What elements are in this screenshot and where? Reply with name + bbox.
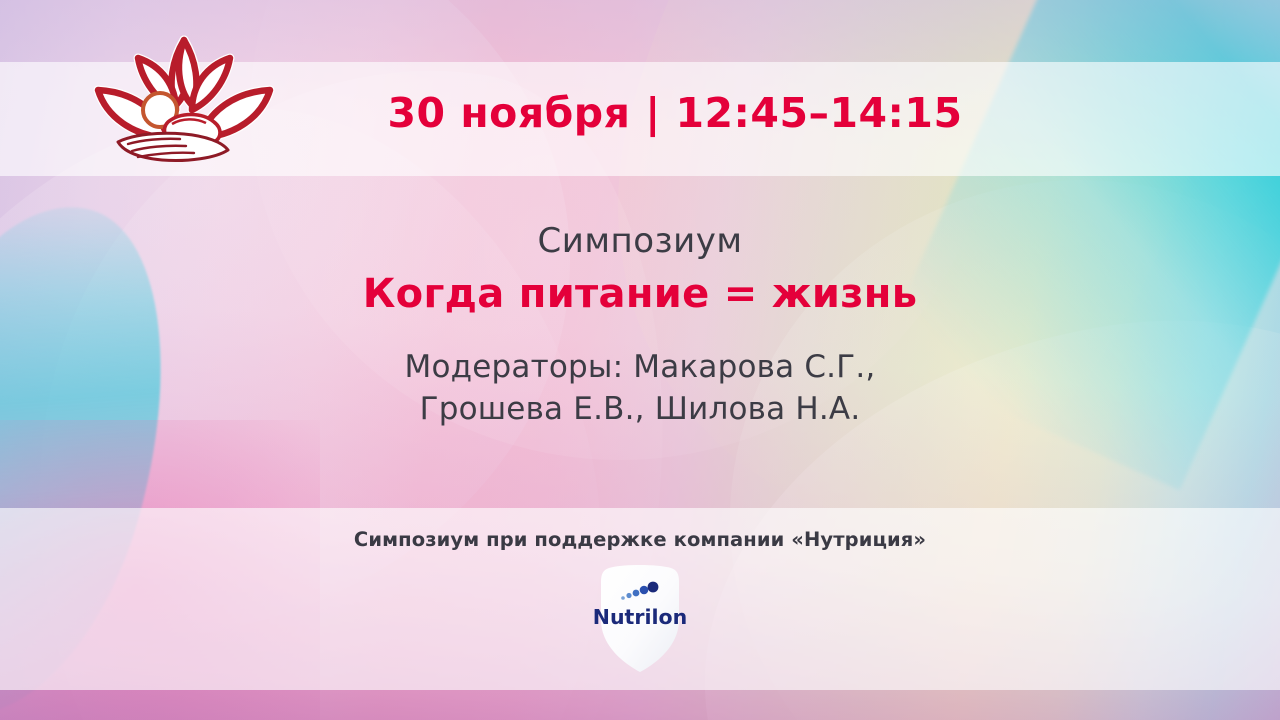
- session-type-label: Симпозиум: [0, 222, 1280, 261]
- nutrilon-shield-logo-icon: Nutrilon: [587, 562, 693, 674]
- event-date-time: 30 ноября | 12:45–14:15: [0, 92, 1280, 135]
- session-title: Когда питание = жизнь: [0, 271, 1280, 317]
- slide-content: 30 ноября | 12:45–14:15 Симпозиум Когда …: [0, 0, 1280, 720]
- presentation-slide: 30 ноября | 12:45–14:15 Симпозиум Когда …: [0, 0, 1280, 720]
- main-text-block: Симпозиум Когда питание = жизнь Модерато…: [0, 222, 1280, 430]
- nutrilon-wordmark: Nutrilon: [593, 605, 687, 629]
- moderators-line-2: Грошева Е.В., Шилова Н.А.: [0, 389, 1280, 431]
- moderators-line-1: Модераторы: Макарова С.Г.,: [0, 347, 1280, 389]
- moderators-block: Модераторы: Макарова С.Г., Грошева Е.В.,…: [0, 347, 1280, 430]
- sponsor-support-text: Симпозиум при поддержке компании «Нутриц…: [0, 528, 1280, 551]
